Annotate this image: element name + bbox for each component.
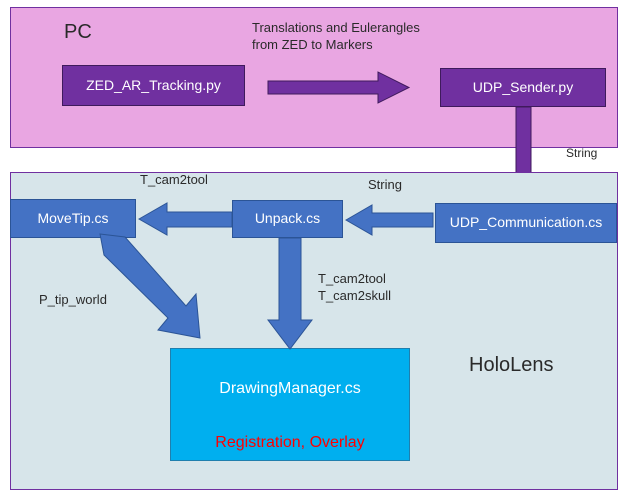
arrow-udp-communication-to-unpack xyxy=(346,205,434,235)
edge-label-t-cam2tool: T_cam2tool xyxy=(140,172,208,189)
node-movetip-label: MoveTip.cs xyxy=(37,210,108,228)
node-drawing-manager[interactable]: DrawingManager.cs Registration, Overlay xyxy=(170,348,410,461)
node-udp-communication-label: UDP_Communication.cs xyxy=(450,214,603,232)
arrow-unpack-to-movetip xyxy=(139,203,233,235)
node-zed-ar-tracking-label: ZED_AR_Tracking.py xyxy=(86,77,221,95)
pc-panel-label: PC xyxy=(64,22,92,42)
node-drawing-manager-label: DrawingManager.cs xyxy=(219,379,360,399)
diagram-canvas: PC ZED_AR_Tracking.py UDP_Sender.py Tran… xyxy=(0,0,627,499)
node-udp-communication[interactable]: UDP_Communication.cs xyxy=(435,203,617,243)
node-drawing-manager-sublabel: Registration, Overlay xyxy=(215,433,364,453)
edge-label-translations: Translations and Eulerangles from ZED to… xyxy=(252,20,420,54)
node-unpack[interactable]: Unpack.cs xyxy=(232,200,343,238)
arrow-movetip-to-drawing-manager xyxy=(88,234,208,346)
edge-label-t-cam-pair: T_cam2tool T_cam2skull xyxy=(318,271,391,305)
edge-label-string-pc: String xyxy=(566,146,597,162)
arrow-unpack-to-drawing-manager xyxy=(268,238,314,350)
hololens-panel-label: HoloLens xyxy=(469,355,554,375)
edge-label-p-tip-world: P_tip_world xyxy=(39,292,107,309)
node-udp-sender-label: UDP_Sender.py xyxy=(473,79,573,97)
node-udp-sender[interactable]: UDP_Sender.py xyxy=(440,68,606,107)
edge-label-string-hololens: String xyxy=(368,177,402,194)
arrow-zed-to-udp-sender xyxy=(268,72,410,104)
node-movetip[interactable]: MoveTip.cs xyxy=(10,199,136,238)
node-unpack-label: Unpack.cs xyxy=(255,210,320,228)
node-zed-ar-tracking[interactable]: ZED_AR_Tracking.py xyxy=(62,65,245,106)
